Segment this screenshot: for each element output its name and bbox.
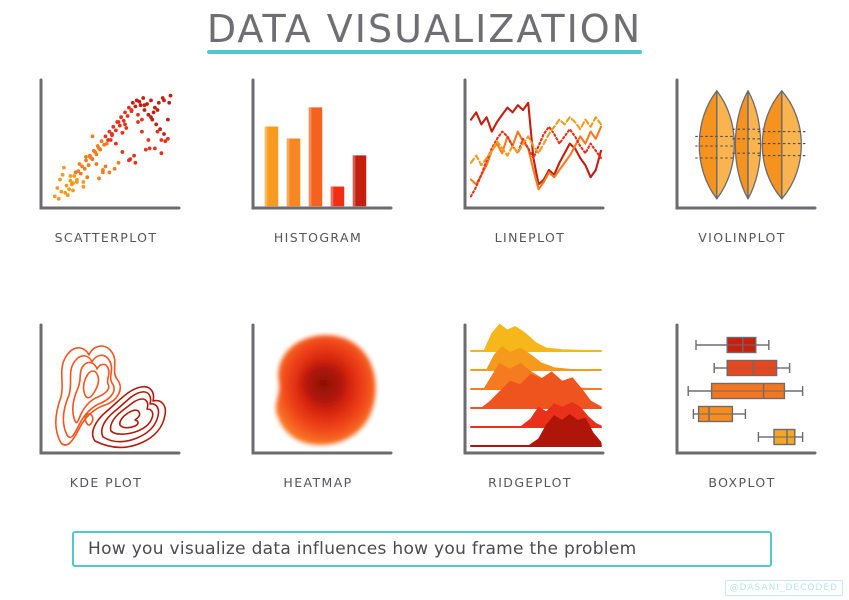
violinplot-figure — [663, 72, 821, 220]
heatmap-figure — [239, 317, 397, 465]
panel-label-histogram: HISTOGRAM — [274, 230, 362, 245]
chart-row-1: SCATTERPLOT HISTOGRAM — [0, 72, 849, 245]
footer-caption-box: How you visualize data influences how yo… — [72, 531, 772, 567]
axes — [465, 80, 603, 208]
poster-canvas: DATA VISUALIZATION SCATTERPLOT — [0, 0, 849, 600]
scatter-points — [53, 94, 173, 201]
panel-histogram[interactable]: HISTOGRAM — [212, 72, 424, 245]
footer-caption-text: How you visualize data influences how yo… — [74, 539, 636, 559]
panel-label-boxplot: BOXPLOT — [708, 475, 775, 490]
page-title: DATA VISUALIZATION — [0, 8, 849, 58]
chart-row-2: KDE PLOT — [0, 317, 849, 490]
panel-violinplot[interactable]: VIOLINPLOT — [636, 72, 848, 245]
panel-label-violinplot: VIOLINPLOT — [698, 230, 786, 245]
kdeplot-figure — [27, 317, 185, 465]
panel-label-lineplot: LINEPLOT — [495, 230, 566, 245]
panel-kdeplot[interactable]: KDE PLOT — [0, 317, 212, 490]
kde-contours — [56, 346, 166, 447]
panel-heatmap[interactable]: HEATMAP — [212, 317, 424, 490]
panel-boxplot[interactable]: BOXPLOT — [636, 317, 848, 490]
box-series — [688, 338, 802, 445]
heatmap-blob — [276, 335, 376, 445]
panel-lineplot[interactable]: LINEPLOT — [424, 72, 636, 245]
histogram-bars — [265, 108, 366, 206]
scatterplot-figure — [27, 72, 185, 220]
watermark: @DASANI_DECODED — [725, 580, 843, 596]
panel-label-kdeplot: KDE PLOT — [70, 475, 142, 490]
axes — [41, 80, 179, 208]
panel-scatterplot[interactable]: SCATTERPLOT — [0, 72, 212, 245]
boxplot-figure — [663, 317, 821, 465]
panel-label-scatterplot: SCATTERPLOT — [55, 230, 158, 245]
lineplot-figure — [451, 72, 609, 220]
ridgeplot-figure — [451, 317, 609, 465]
violin-shapes — [695, 91, 805, 199]
chart-grid: SCATTERPLOT HISTOGRAM — [0, 72, 849, 490]
page-title-text: DATA VISUALIZATION — [207, 7, 642, 51]
panel-label-heatmap: HEATMAP — [283, 475, 352, 490]
ridge-series — [471, 324, 601, 446]
histogram-figure — [239, 72, 397, 220]
line-series — [471, 103, 601, 197]
panel-ridgeplot[interactable]: RIDGEPLOT — [424, 317, 636, 490]
panel-label-ridgeplot: RIDGEPLOT — [488, 475, 572, 490]
